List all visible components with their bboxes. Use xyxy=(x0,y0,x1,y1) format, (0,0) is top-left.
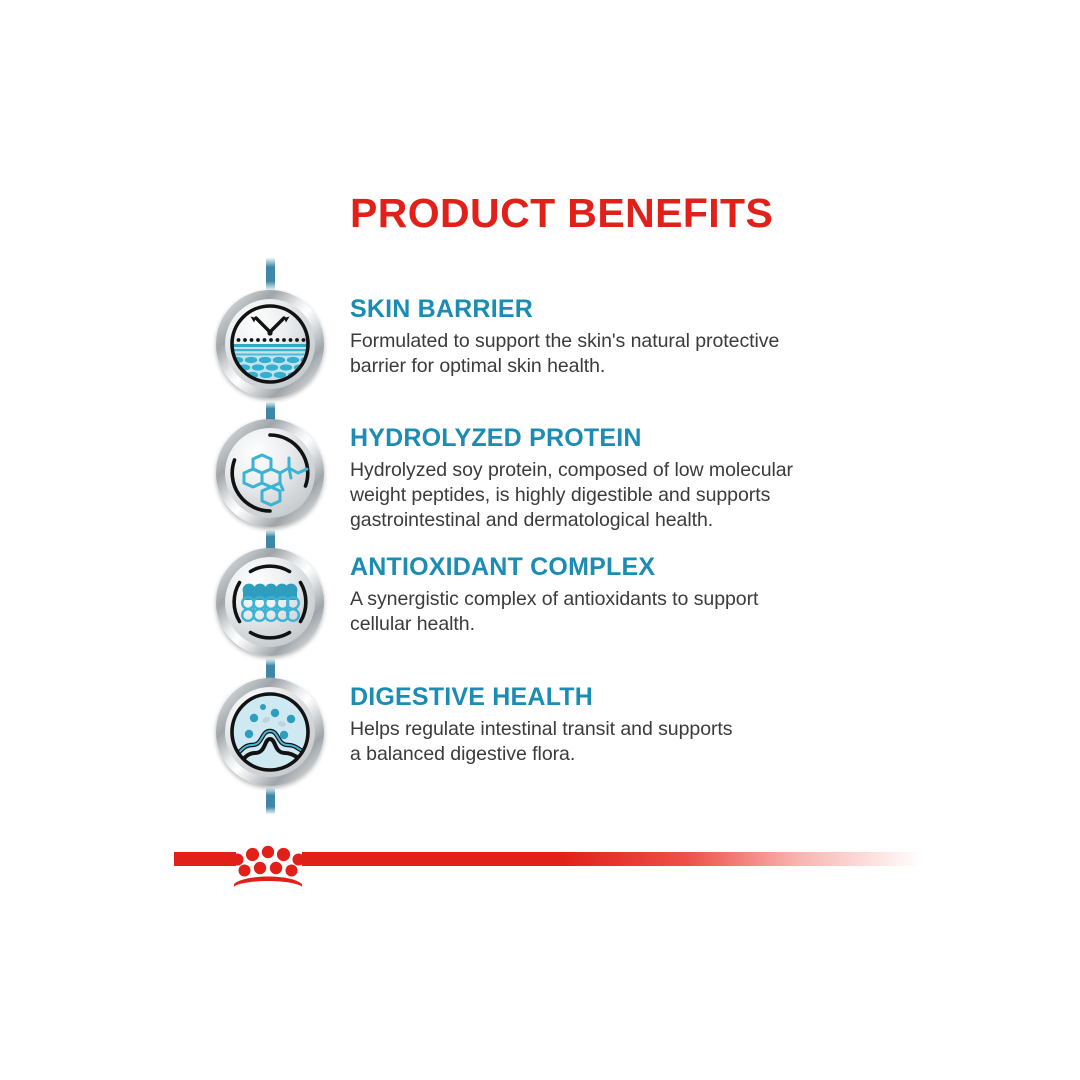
benefit-heading: DIGESTIVE HEALTH xyxy=(350,684,880,710)
benefit-heading: SKIN BARRIER xyxy=(350,296,880,322)
benefit-line: A synergistic complex of antioxidants to… xyxy=(350,587,880,612)
benefit-heading: ANTIOXIDANT COMPLEX xyxy=(350,554,880,580)
icon-disc-inner xyxy=(225,428,315,518)
product-benefits-page: PRODUCT BENEFITS xyxy=(0,0,1080,1080)
benefit-text-block: HYDROLYZED PROTEIN Hydrolyzed soy protei… xyxy=(350,425,880,533)
icon-disc xyxy=(216,678,324,786)
benefit-text-block: SKIN BARRIER Formulated to support the s… xyxy=(350,296,880,379)
brand-bar-right-segment xyxy=(302,852,922,866)
page-title: PRODUCT BENEFITS xyxy=(350,193,773,234)
skin-barrier-icon xyxy=(216,290,324,398)
icon-disc-inner xyxy=(225,299,315,389)
benefit-line: weight peptides, is highly digestible an… xyxy=(350,483,880,508)
benefit-line: Helps regulate intestinal transit and su… xyxy=(350,717,880,742)
benefit-text-block: ANTIOXIDANT COMPLEX A synergistic comple… xyxy=(350,554,880,637)
icon-disc xyxy=(216,548,324,656)
royal-canin-crown-logo xyxy=(222,843,314,889)
benefit-line: Hydrolyzed soy protein, composed of low … xyxy=(350,458,880,483)
benefit-line: Formulated to support the skin's natural… xyxy=(350,329,880,354)
icon-disc-inner xyxy=(225,687,315,777)
footer-brand-bar xyxy=(0,843,1080,889)
benefit-description: A synergistic complex of antioxidants to… xyxy=(350,587,880,637)
benefit-line: cellular health. xyxy=(350,612,880,637)
connector-dash-top xyxy=(266,258,275,290)
hydrolyzed-protein-molecule-icon xyxy=(216,419,324,527)
icon-disc xyxy=(216,419,324,527)
antioxidant-cells-icon xyxy=(216,548,324,656)
benefit-text-block: DIGESTIVE HEALTH Helps regulate intestin… xyxy=(350,684,880,767)
connector-dash-bottom xyxy=(266,788,275,814)
icon-disc xyxy=(216,290,324,398)
icon-disc-inner xyxy=(225,557,315,647)
benefit-description: Helps regulate intestinal transit and su… xyxy=(350,717,880,767)
benefit-line: gastrointestinal and dermatological heal… xyxy=(350,508,880,533)
benefit-line: a balanced digestive flora. xyxy=(350,742,880,767)
benefit-line: barrier for optimal skin health. xyxy=(350,354,880,379)
benefit-heading: HYDROLYZED PROTEIN xyxy=(350,425,880,451)
digestive-health-intestine-icon xyxy=(216,678,324,786)
benefit-description: Hydrolyzed soy protein, composed of low … xyxy=(350,458,880,533)
benefit-description: Formulated to support the skin's natural… xyxy=(350,329,880,379)
